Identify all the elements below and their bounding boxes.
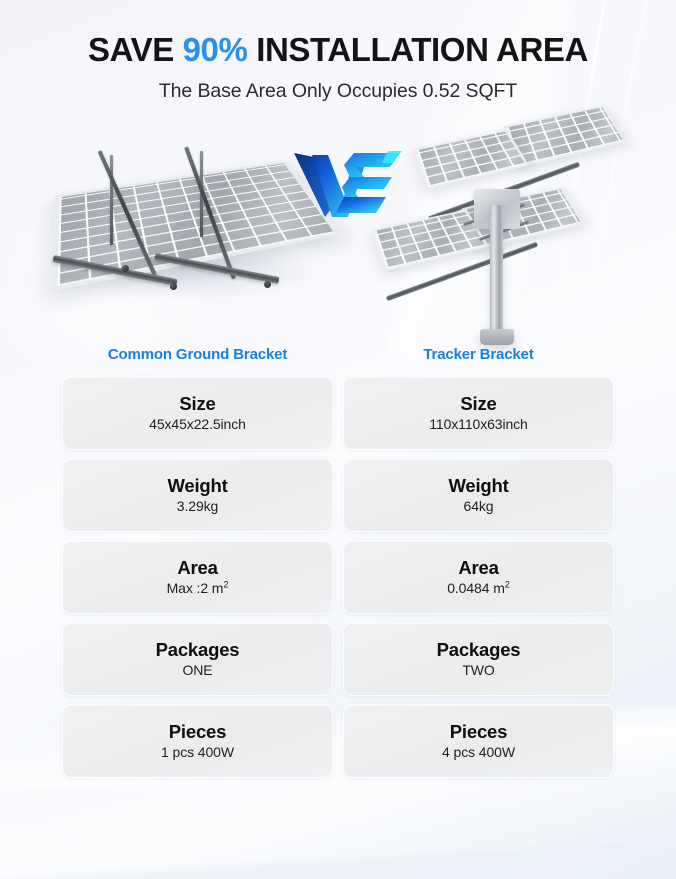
spec-value: Max :2 m2 xyxy=(167,581,229,596)
spec-card-size-left: Size 45x45x22.5inch xyxy=(62,376,333,450)
spec-card-packages-right: Packages TWO xyxy=(343,622,614,696)
header: SAVE 90% INSTALLATION AREA The Base Area… xyxy=(0,0,676,103)
headline-accent-percent: 90% xyxy=(183,31,248,68)
spec-label: Packages xyxy=(156,640,240,660)
spec-card-weight-left: Weight 3.29kg xyxy=(62,458,333,532)
spec-card-area-right: Area 0.0484 m2 xyxy=(343,540,614,614)
tracker-pole xyxy=(490,205,503,337)
spec-value-superscript: 2 xyxy=(505,579,510,589)
ground-bolt-3 xyxy=(264,281,271,288)
spec-card-packages-left: Packages ONE xyxy=(62,622,333,696)
spec-value: 110x110x63inch xyxy=(429,417,528,432)
spec-card-size-right: Size 110x110x63inch xyxy=(343,376,614,450)
ground-bolt-1 xyxy=(122,265,129,272)
page-subtitle: The Base Area Only Occupies 0.52 SQFT xyxy=(0,80,676,103)
spec-value: 64kg xyxy=(464,499,494,514)
page-title: SAVE 90% INSTALLATION AREA xyxy=(0,32,676,69)
tracker-panel-top-left xyxy=(414,129,529,189)
spec-label: Weight xyxy=(448,476,508,496)
spec-card-weight-right: Weight 64kg xyxy=(343,458,614,532)
ground-bolt-2 xyxy=(170,283,177,290)
table-row: Packages ONE Packages TWO xyxy=(62,622,614,696)
spec-value: 45x45x22.5inch xyxy=(149,417,246,432)
comparison-table: Size 45x45x22.5inch Size 110x110x63inch … xyxy=(0,376,676,778)
vs-badge-icon xyxy=(292,147,404,219)
spec-label: Size xyxy=(179,394,215,414)
spec-value: ONE xyxy=(182,663,212,678)
ground-support-post-1 xyxy=(110,155,113,245)
spec-value: 1 pcs 400W xyxy=(161,745,234,760)
column-label-common-ground-bracket: Common Ground Bracket xyxy=(62,346,333,363)
spec-value-superscript: 2 xyxy=(223,579,228,589)
table-row: Pieces 1 pcs 400W Pieces 4 pcs 400W xyxy=(62,704,614,778)
spec-label: Area xyxy=(177,558,217,578)
column-labels: Common Ground Bracket Tracker Bracket xyxy=(0,346,676,363)
headline-suffix: INSTALLATION AREA xyxy=(247,31,588,68)
spec-label: Pieces xyxy=(450,722,507,742)
table-row: Area Max :2 m2 Area 0.0484 m2 xyxy=(62,540,614,614)
promo-banner: SAVE 90% INSTALLATION AREA The Base Area… xyxy=(0,0,676,879)
spec-value: 3.29kg xyxy=(177,499,218,514)
table-row: Weight 3.29kg Weight 64kg xyxy=(62,458,614,532)
spec-label: Packages xyxy=(437,640,521,660)
spec-label: Area xyxy=(458,558,498,578)
tracker-bracket-image xyxy=(362,93,662,343)
spec-card-pieces-right: Pieces 4 pcs 400W xyxy=(343,704,614,778)
spec-label: Pieces xyxy=(169,722,226,742)
table-row: Size 45x45x22.5inch Size 110x110x63inch xyxy=(62,376,614,450)
hero-product-comparison xyxy=(0,117,676,332)
tracker-base-foot xyxy=(480,329,514,345)
spec-label: Size xyxy=(460,394,496,414)
spec-value: 4 pcs 400W xyxy=(442,745,515,760)
column-label-tracker-bracket: Tracker Bracket xyxy=(343,346,614,363)
spec-card-pieces-left: Pieces 1 pcs 400W xyxy=(62,704,333,778)
headline-prefix: SAVE xyxy=(88,31,183,68)
spec-label: Weight xyxy=(167,476,227,496)
spec-card-area-left: Area Max :2 m2 xyxy=(62,540,333,614)
spec-value-text: Max :2 m xyxy=(167,580,224,596)
spec-value: 0.0484 m2 xyxy=(447,581,510,596)
spec-value-text: 0.0484 m xyxy=(447,580,505,596)
spec-value: TWO xyxy=(462,663,494,678)
